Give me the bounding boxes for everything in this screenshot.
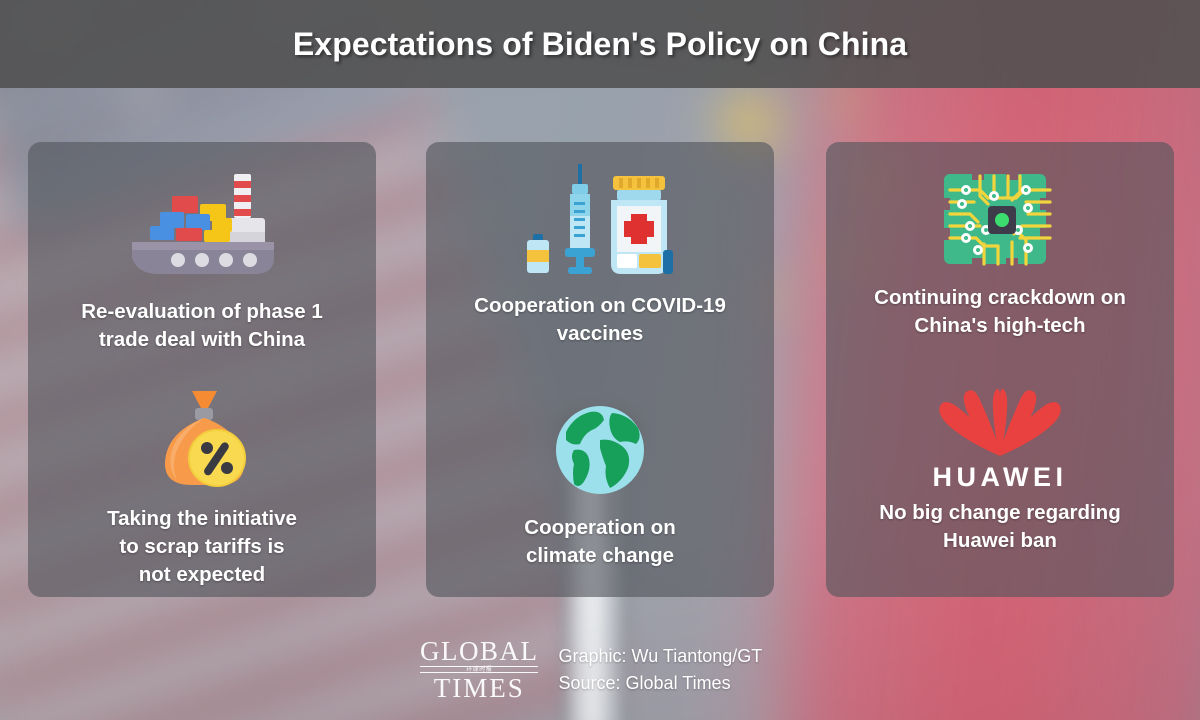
source-credit: Source: Global Times — [559, 673, 763, 694]
globe-icon — [548, 398, 652, 502]
entry-label: Taking the initiative to scrap tariffs i… — [107, 505, 297, 589]
microchip-circuit-icon — [940, 168, 1060, 272]
logo-chinese-text: 环球时报 — [463, 667, 495, 673]
entry-scrap-tariffs: Taking the initiative to scrap tariffs i… — [107, 388, 297, 589]
entry-covid-vaccines: Cooperation on COVID-19 vaccines — [474, 162, 726, 348]
panel-trade: Re-evaluation of phase 1 trade deal with… — [28, 142, 376, 597]
panel-tech: Continuing crackdown on China's high-tec… — [826, 142, 1174, 597]
entry-label: Cooperation on climate change — [524, 514, 675, 570]
global-times-logo: GLOBAL 环球时报 TIMES — [420, 638, 539, 702]
entry-label: Re-evaluation of phase 1 trade deal with… — [81, 298, 323, 354]
infographic-root: Expectations of Biden's Policy on China — [0, 0, 1200, 720]
credit-block: Graphic: Wu Tiantong/GT Source: Global T… — [559, 646, 763, 694]
entry-huawei-ban: HUAWEI No big change regarding Huawei ba… — [879, 386, 1120, 555]
huawei-wordmark: HUAWEI — [933, 462, 1068, 493]
header-bar: Expectations of Biden's Policy on China — [0, 0, 1200, 88]
entry-high-tech-crackdown: Continuing crackdown on China's high-tec… — [874, 168, 1126, 340]
page-title: Expectations of Biden's Policy on China — [293, 26, 907, 63]
money-bag-percent-icon — [147, 388, 257, 493]
vaccine-syringe-icon — [518, 162, 683, 280]
logo-global-text: GLOBAL — [420, 638, 539, 665]
logo-divider: 环球时报 — [420, 665, 538, 674]
graphic-credit: Graphic: Wu Tiantong/GT — [559, 646, 763, 667]
entry-label: Continuing crackdown on China's high-tec… — [874, 284, 1126, 340]
footer: GLOBAL 环球时报 TIMES Graphic: Wu Tiantong/G… — [420, 638, 762, 702]
logo-times-text: TIMES — [434, 675, 525, 702]
entry-label: No big change regarding Huawei ban — [879, 499, 1120, 555]
entry-phase-one-deal: Re-evaluation of phase 1 trade deal with… — [81, 166, 323, 354]
panel-cooperation: Cooperation on COVID-19 vaccines — [426, 142, 774, 597]
entry-climate-change: Cooperation on climate change — [524, 398, 675, 570]
cargo-ship-icon — [114, 166, 289, 286]
entry-label: Cooperation on COVID-19 vaccines — [474, 292, 726, 348]
huawei-logo-icon — [926, 386, 1074, 460]
panel-grid: Re-evaluation of phase 1 trade deal with… — [0, 88, 1200, 720]
